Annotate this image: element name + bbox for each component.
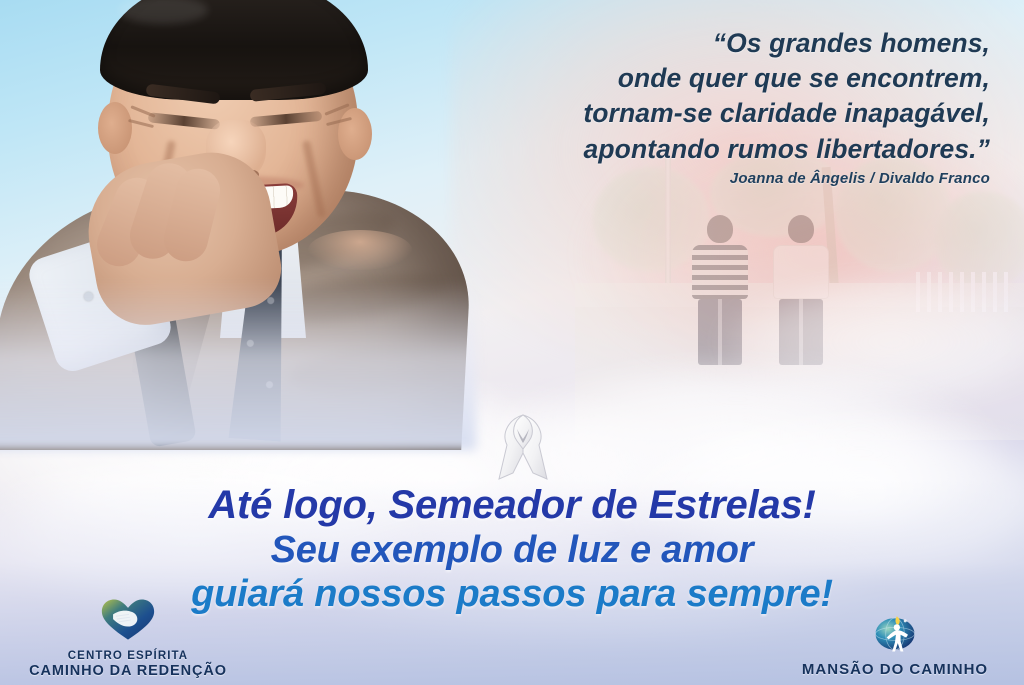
scene-fence bbox=[916, 272, 1015, 313]
logo-mansao-do-caminho: MANSÃO DO CAMINHO bbox=[780, 610, 1010, 679]
portrait-photo bbox=[0, 0, 458, 440]
portrait-fade-blend bbox=[0, 280, 476, 450]
hair bbox=[100, 0, 368, 100]
quote-line-3: tornam-se claridade inapagável, bbox=[430, 96, 990, 131]
logo-caption-mansao-do-caminho: MANSÃO DO CAMINHO bbox=[780, 662, 1010, 679]
quote-text: “Os grandes homens, onde quer que se enc… bbox=[430, 26, 990, 167]
logo-caption-line-1: CENTRO ESPÍRITA bbox=[18, 650, 238, 663]
quote-line-4: apontando rumos libertadores.” bbox=[430, 132, 990, 167]
quote-line-1: “Os grandes homens, bbox=[430, 26, 990, 61]
headline-line-2: Seu exemplo de luz e amor bbox=[0, 530, 1024, 570]
logo-centro-espirita: CENTRO ESPÍRITA CAMINHO DA REDENÇÃO bbox=[18, 598, 238, 679]
walking-figure-white bbox=[773, 215, 829, 365]
ear bbox=[338, 108, 372, 160]
quote-attribution: Joanna de Ângelis / Divaldo Franco bbox=[430, 170, 990, 187]
walking-figure-striped bbox=[692, 215, 748, 365]
logo-caption-centro-espirita: CENTRO ESPÍRITA CAMINHO DA REDENÇÃO bbox=[18, 650, 238, 679]
headline-line-1: Até logo, Semeador de Estrelas! bbox=[0, 484, 1024, 526]
logo-caption-line-2: CAMINHO DA REDENÇÃO bbox=[18, 663, 238, 679]
white-mourning-ribbon bbox=[487, 409, 559, 489]
background-scene-walking-figures bbox=[575, 150, 1024, 440]
globe-figure-icon bbox=[780, 610, 1010, 659]
memorial-poster: “Os grandes homens, onde quer que se enc… bbox=[0, 0, 1024, 685]
quote-line-2: onde quer que se encontrem, bbox=[430, 61, 990, 96]
logo-caption-line-1: MANSÃO DO CAMINHO bbox=[780, 662, 1010, 679]
heart-hand-icon bbox=[18, 598, 238, 647]
headline: Até logo, Semeador de Estrelas! Seu exem… bbox=[0, 484, 1024, 614]
ear bbox=[98, 102, 132, 154]
